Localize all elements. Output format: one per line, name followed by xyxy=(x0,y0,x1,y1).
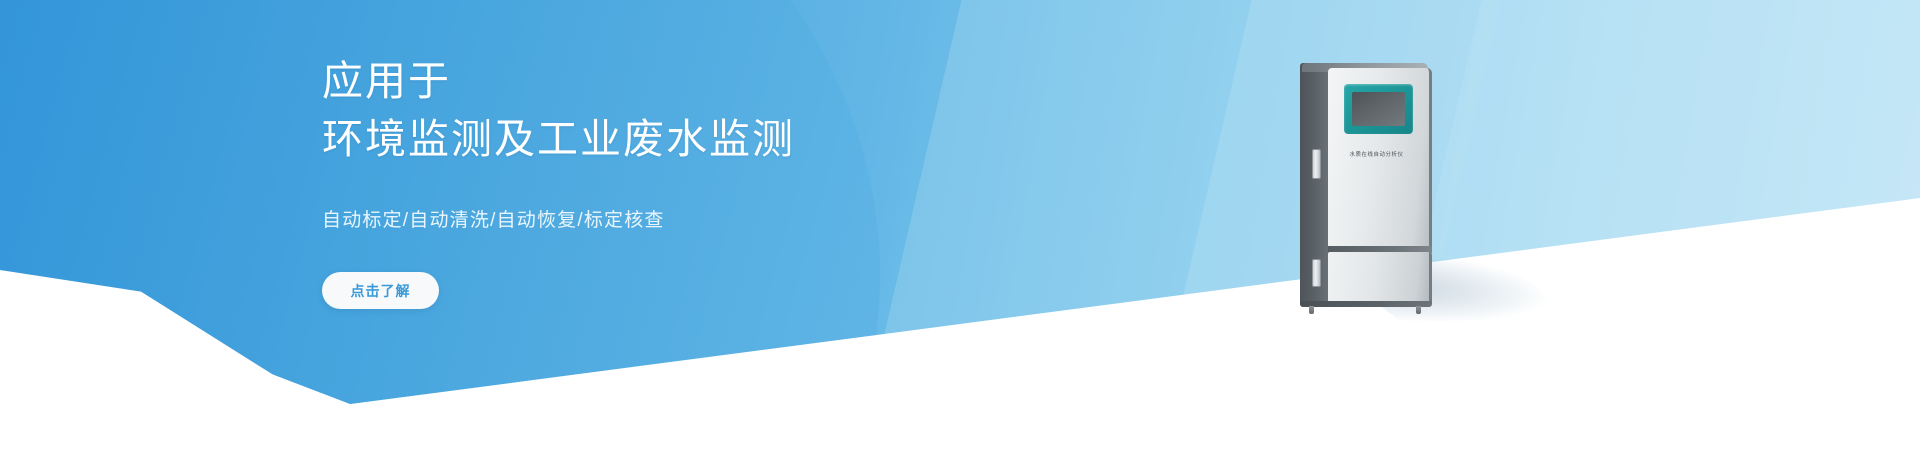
hero-banner: 应用于 环境监测及工业废水监测 自动标定/自动清洗/自动恢复/标定核查 点击了解… xyxy=(0,0,1920,450)
headline-line-1: 应用于 xyxy=(322,52,1022,110)
learn-more-button[interactable]: 点击了解 xyxy=(322,272,439,309)
caster-wheel-left xyxy=(1309,306,1314,314)
headline-line-2: 环境监测及工业废水监测 xyxy=(322,110,1022,168)
display-bezel xyxy=(1344,84,1413,134)
product-front-label: 水质在线自动分析仪 xyxy=(1328,150,1425,158)
cabinet-lower-door xyxy=(1328,252,1432,304)
water-quality-analyzer-image: 水质在线自动分析仪 xyxy=(1300,63,1446,313)
display-screen xyxy=(1352,92,1405,126)
caster-wheel-right xyxy=(1416,306,1421,314)
lower-door-handle xyxy=(1312,259,1321,287)
upper-door-handle xyxy=(1312,149,1321,179)
hero-copy-block: 应用于 环境监测及工业废水监测 自动标定/自动清洗/自动恢复/标定核查 点击了解 xyxy=(322,52,1022,309)
cabinet-base xyxy=(1300,301,1432,307)
hero-subtitle: 自动标定/自动清洗/自动恢复/标定核查 xyxy=(322,205,1022,232)
cabinet-upper-door: 水质在线自动分析仪 xyxy=(1328,68,1432,246)
